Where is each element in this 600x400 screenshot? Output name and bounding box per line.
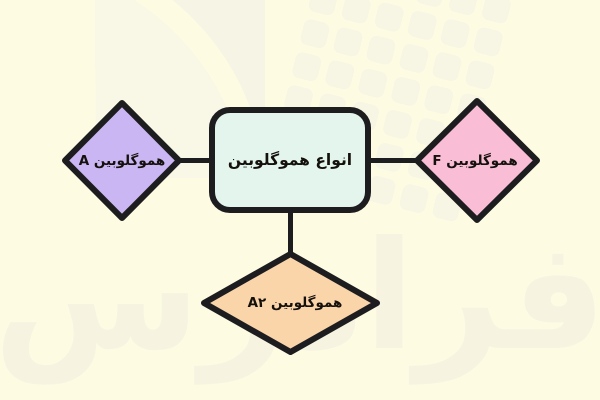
node-branch-hemoglobin-a2[interactable] bbox=[204, 254, 377, 352]
node-center-hemoglobin-types[interactable] bbox=[212, 110, 368, 210]
node-branch-hemoglobin-a[interactable] bbox=[65, 103, 179, 218]
diagram-canvas bbox=[0, 0, 600, 400]
node-branch-hemoglobin-f[interactable] bbox=[417, 101, 537, 220]
